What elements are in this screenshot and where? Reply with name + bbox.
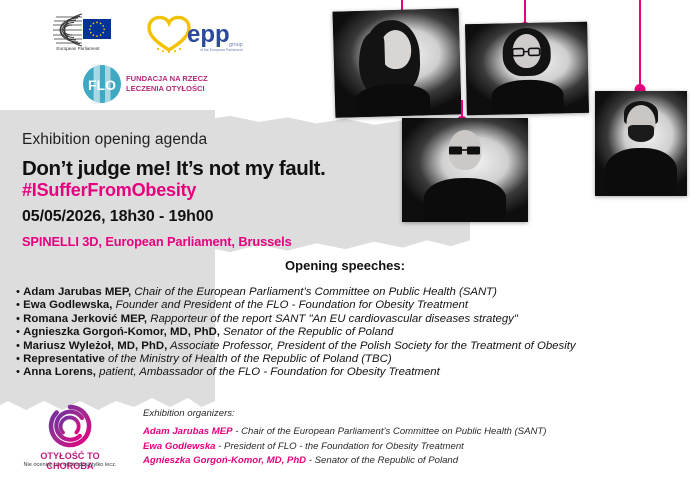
hashtag-text: #ISufferFromObesity — [22, 180, 196, 201]
speaker-name: Romana Jerković MEP, — [23, 313, 147, 325]
opening-speeches-heading: Opening speeches: — [0, 258, 690, 273]
organizer-name: Ewa Godlewska — [143, 441, 216, 452]
organizer-desc: - Chair of the European Parliament’s Com… — [233, 426, 547, 437]
speaker-role: patient, Ambassador of the FLO - Foundat… — [96, 366, 440, 378]
epp-wordmark: epp — [187, 21, 230, 48]
speaker-row: • Agnieszka Gorgoń-Komor, MD, PhD, Senat… — [16, 326, 676, 339]
speaker-row: • Adam Jarubas MEP, Chair of the Europea… — [16, 286, 676, 299]
epp-heart-icon — [149, 17, 189, 50]
speaker-role: Founder and President of the FLO - Found… — [112, 299, 468, 311]
speaker-role: Rapporteur of the report SANT "An EU car… — [147, 313, 518, 325]
event-venue: SPINELLI 3D, European Parliament, Brusse… — [22, 234, 292, 249]
otylosc-to-choroba-logo: OTYŁOŚĆ TO CHOROBA Nie oceniaj, nie odch… — [22, 404, 118, 474]
speaker-role: Associate Professor, President of the Po… — [167, 340, 575, 352]
flo-mark: FLO — [88, 77, 116, 93]
speaker-row: • Mariusz Wyleżoł, MD, PhD, Associate Pr… — [16, 340, 676, 353]
hanging-portrait-3 — [400, 100, 530, 225]
speaker-row: • Ewa Godlewska, Founder and President o… — [16, 299, 676, 312]
organizer-row: Adam Jarubas MEP - Chair of the European… — [143, 425, 546, 440]
speaker-row: • Representative of the Ministry of Heal… — [16, 353, 676, 366]
organizer-name: Adam Jarubas MEP — [143, 426, 233, 437]
portrait-bearded-man — [595, 91, 687, 196]
organizers-label: Exhibition organizers: — [143, 408, 546, 419]
epp-sub2: of the European Parliament — [200, 48, 243, 52]
european-parliament-logo: European Parliament European Parliament — [42, 8, 114, 52]
speaker-role: Chair of the European Parliament’s Commi… — [131, 286, 497, 298]
event-datetime: 05/05/2026, 18h30 - 19h00 — [22, 208, 213, 226]
flo-line1: FUNDACJA NA RZECZ — [126, 74, 208, 83]
speaker-role: of the Ministry of Health of the Republi… — [105, 353, 392, 365]
epp-group-logo: epp group of the European Parliament — [141, 8, 251, 54]
eyeglasses-icon — [512, 47, 542, 58]
organizer-row: Agnieszka Gorgoń-Komor, MD, PhD - Senato… — [143, 454, 546, 469]
organizer-name: Agnieszka Gorgoń-Komor, MD, PhD — [143, 455, 306, 466]
speaker-name: Agnieszka Gorgoń-Komor, MD, PhD, — [23, 326, 220, 338]
organizer-desc: - Senator of the Republic of Poland — [306, 455, 458, 466]
european-parliament-logo-label: European Parliament — [56, 46, 100, 51]
flo-logo: FLO FUNDACJA NA RZECZ LECZENIA OTYŁOŚCI — [78, 62, 228, 106]
page-title: Don’t judge me! It’s not my fault. — [22, 157, 325, 181]
speaker-row: • Anna Lorens, patient, Ambassador of th… — [16, 366, 676, 379]
eyeglasses-icon — [448, 145, 482, 156]
hanging-wire — [639, 0, 641, 90]
organizer-desc: - President of FLO - the Foundation for … — [216, 441, 464, 452]
portrait-bald-man-glasses — [402, 118, 528, 222]
speaker-role: Senator of the Republic of Poland — [220, 326, 394, 338]
otylosc-logo-tagline: Nie oceniaj, nie odchudzaj, tylko lecz. — [16, 462, 124, 468]
speaker-name: Ewa Godlewska, — [23, 299, 112, 311]
poster-canvas: European Parliament European Parliament … — [0, 0, 690, 480]
hanging-portrait-4 — [593, 0, 690, 210]
organizers-list: Adam Jarubas MEP - Chair of the European… — [143, 425, 546, 469]
speaker-name: Representative — [23, 353, 105, 365]
speaker-name: Adam Jarubas MEP, — [23, 286, 131, 298]
kicker-text: Exhibition opening agenda — [22, 131, 207, 149]
otylosc-logo-title: OTYŁOŚĆ TO CHOROBA — [22, 451, 118, 471]
speaker-name: Anna Lorens, — [23, 366, 96, 378]
organizers-block: Exhibition organizers: Adam Jarubas MEP … — [143, 408, 546, 469]
speakers-list: • Adam Jarubas MEP, Chair of the Europea… — [16, 286, 676, 380]
speaker-name: Mariusz Wyleżoł, MD, PhD, — [23, 340, 167, 352]
flo-line2: LECZENIA OTYŁOŚCI — [126, 84, 205, 93]
speaker-row: • Romana Jerković MEP, Rapporteur of the… — [16, 313, 676, 326]
organizer-row: Ewa Godlewska - President of FLO - the F… — [143, 440, 546, 455]
